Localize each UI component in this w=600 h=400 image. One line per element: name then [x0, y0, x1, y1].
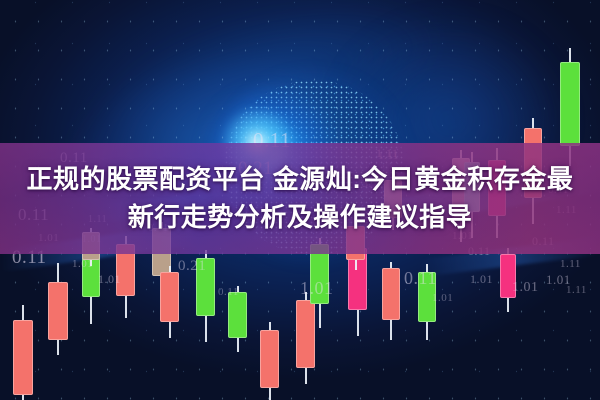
- headline-line-2: 新行走势分析及操作建议指导: [0, 198, 600, 236]
- candle-body: [382, 268, 400, 320]
- candle-body: [82, 255, 100, 297]
- headline-title: 正规的股票配资平台 金源灿:今日黄金积存金最 新行走势分析及操作建议指导: [0, 160, 600, 236]
- candle-wick: [57, 263, 59, 355]
- candle-body: [418, 272, 436, 322]
- price-number: 1.01: [546, 272, 571, 288]
- candle-body: [500, 254, 516, 298]
- headline-line-1: 正规的股票配资平台 金源灿:今日黄金积存金最: [27, 164, 574, 194]
- candle-wick: [90, 248, 92, 324]
- price-number: 1.01: [300, 278, 334, 299]
- candle-body: [348, 248, 367, 310]
- candle-body: [560, 62, 580, 146]
- candle-wick: [507, 248, 509, 312]
- candle-wick: [169, 266, 171, 338]
- candle-body: [48, 282, 68, 340]
- price-number: 1.01: [432, 292, 453, 304]
- candlestick-down: [13, 305, 33, 400]
- candlestick-up: [228, 286, 247, 352]
- candle-wick: [205, 250, 207, 342]
- candle-wick: [237, 286, 239, 352]
- price-number: 0.11: [404, 268, 437, 289]
- candlestick-down: [382, 262, 400, 340]
- candle-wick: [426, 264, 428, 340]
- price-number: 1.01: [98, 272, 121, 287]
- price-number: 1.11: [566, 284, 587, 296]
- candlestick-down: [160, 266, 179, 338]
- price-number: 1.01: [72, 258, 93, 270]
- candle-body: [296, 300, 315, 368]
- candle-body: [13, 320, 33, 395]
- price-number: 1.01: [470, 272, 493, 287]
- candle-body: [196, 258, 215, 316]
- candlestick-down: [348, 240, 367, 336]
- candle-wick: [269, 322, 271, 400]
- candlestick-down: [500, 248, 516, 312]
- candlestick-down: [48, 263, 68, 355]
- candlestick-down: [296, 292, 315, 384]
- candlestick-down: [260, 322, 279, 400]
- price-number: 0.11: [218, 286, 239, 298]
- candlestick-up: [82, 248, 100, 324]
- candle-wick: [22, 305, 24, 400]
- candle-wick: [305, 292, 307, 384]
- candle-wick: [357, 240, 359, 336]
- candlestick-up: [196, 250, 215, 342]
- candlestick-up: [418, 264, 436, 340]
- price-number: 1.01: [512, 280, 539, 296]
- candle-body: [160, 272, 179, 322]
- price-number: 1.11: [560, 258, 581, 270]
- banner-image: 0.110.110.111.011.011.011.111.010.110.21…: [0, 0, 600, 400]
- candle-body: [228, 292, 247, 338]
- price-number: 0.21: [178, 258, 206, 275]
- candle-wick: [390, 262, 392, 340]
- candle-body: [260, 330, 279, 388]
